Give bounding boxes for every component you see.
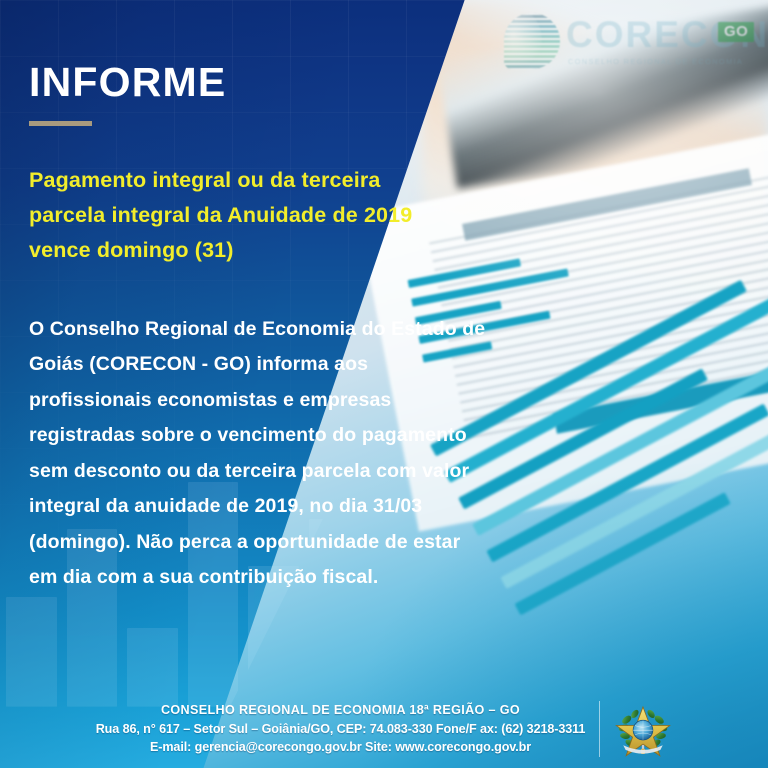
footer-address: Rua 86, n° 617 – Setor Sul – Goiânia/GO,… <box>96 722 586 736</box>
body-paragraph: O Conselho Regional de Economia do Estad… <box>29 312 491 596</box>
headline-text: Pagamento integral ou da terceira parcel… <box>29 163 459 267</box>
page-title: INFORME <box>29 62 226 103</box>
logo-tagline: CONSELHO REGIONAL DE ECONOMIA <box>568 57 743 66</box>
corecon-logo: CORECON CONSELHO REGIONAL DE ECONOMIA GO <box>500 8 758 74</box>
footer-contact: E-mail: gerencia@corecongo.gov.br Site: … <box>150 740 531 754</box>
brazil-coat-of-arms-icon <box>614 700 672 758</box>
footer-divider <box>599 701 600 757</box>
state-badge-go: GO <box>718 22 754 42</box>
footer-contact-block: CONSELHO REGIONAL DE ECONOMIA 18ª REGIÃO… <box>96 701 586 758</box>
footer: CONSELHO REGIONAL DE ECONOMIA 18ª REGIÃO… <box>0 700 768 758</box>
poster-content: INFORME Pagamento integral ou da terceir… <box>0 0 768 768</box>
informe-poster: INFORME Pagamento integral ou da terceir… <box>0 0 768 768</box>
footer-organization: CONSELHO REGIONAL DE ECONOMIA 18ª REGIÃO… <box>96 701 586 720</box>
globe-icon <box>504 13 560 69</box>
title-block: INFORME <box>29 62 226 126</box>
title-accent-rule <box>29 121 92 126</box>
